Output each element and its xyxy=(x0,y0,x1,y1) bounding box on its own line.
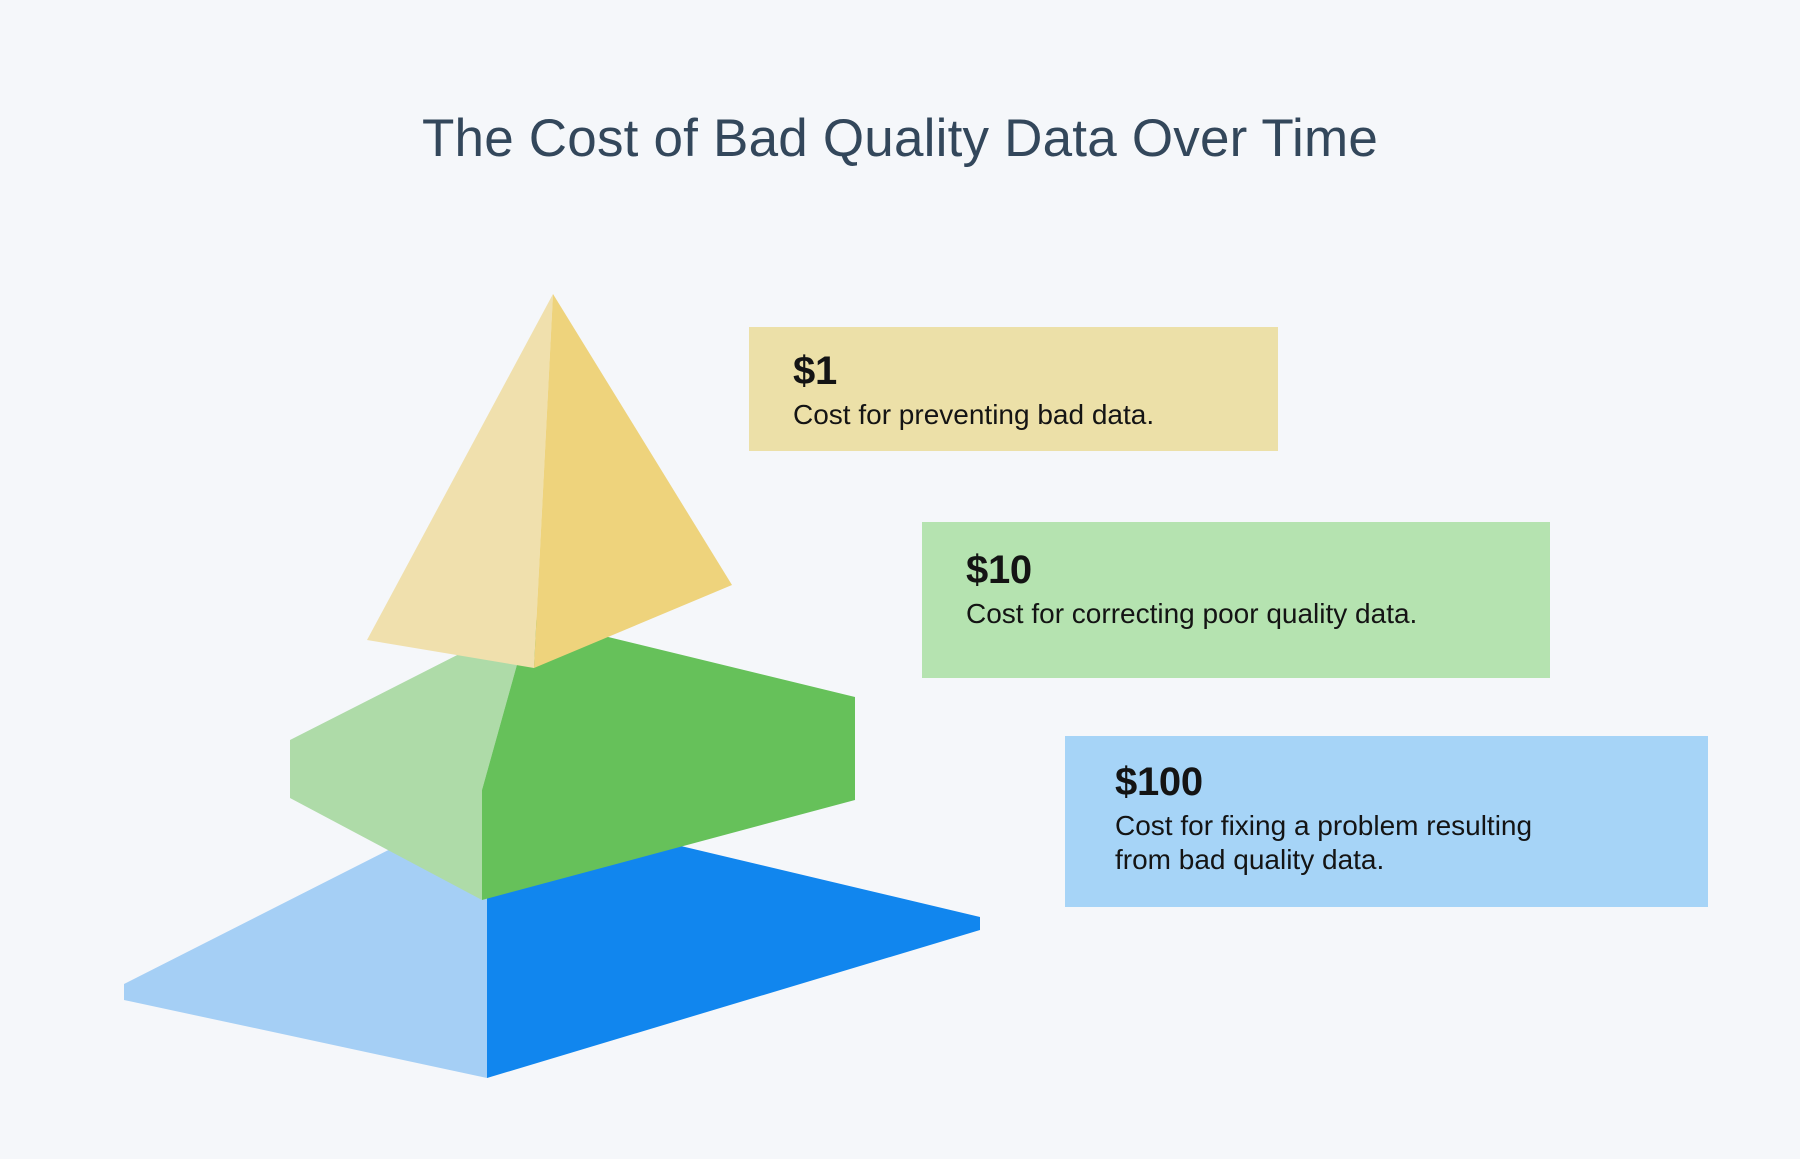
pyramid-tier-top-left-face xyxy=(367,294,553,668)
infographic-canvas: The Cost of Bad Quality Data Over Time $… xyxy=(0,0,1800,1159)
callout-tier-middle[interactable]: $10 Cost for correcting poor quality dat… xyxy=(922,522,1550,678)
callout-caption: Cost for correcting poor quality data. xyxy=(966,597,1550,631)
callout-amount: $10 xyxy=(966,550,1550,590)
callout-amount: $1 xyxy=(793,351,1278,391)
callout-amount: $100 xyxy=(1115,762,1708,802)
callout-caption: Cost for fixing a problem resulting from… xyxy=(1115,809,1708,877)
pyramid-tier-top[interactable] xyxy=(367,294,732,668)
callout-tier-top[interactable]: $1 Cost for preventing bad data. xyxy=(749,327,1278,451)
pyramid-tier-top-right-face xyxy=(534,294,732,668)
callout-tier-bottom[interactable]: $100 Cost for fixing a problem resulting… xyxy=(1065,736,1708,907)
callout-caption: Cost for preventing bad data. xyxy=(793,398,1278,432)
